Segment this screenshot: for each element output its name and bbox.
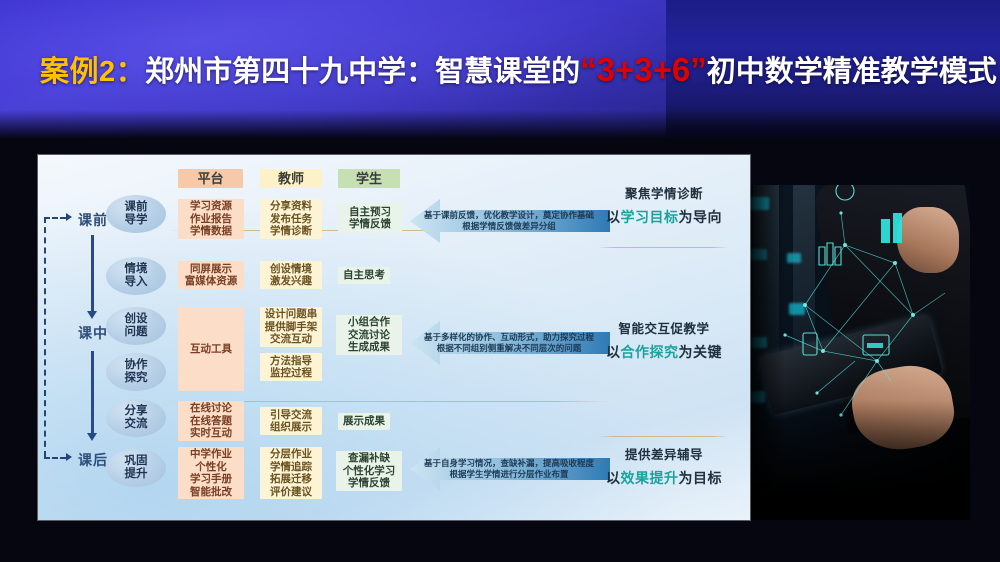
insight-arrow-1-line2: 根据学情反馈做差异分组 <box>462 221 556 232</box>
insight-arrow-2-text: 基于多样化的协作、互动形式，助力探究过程 根据不同组别侧重解决不同层次的问题 <box>416 321 602 365</box>
cell-platform-row-2: 同屏展示富媒体资源 <box>178 261 244 289</box>
step-oval-1-label: 课前导学 <box>125 201 148 227</box>
caption-block-1: 聚焦学情诊断 以学习目标为导向 <box>594 183 734 227</box>
stage-label-pre: 课前 <box>78 210 108 230</box>
title-tail: 初中数学精准教学模式 <box>707 56 997 88</box>
flow-arrow-head-2-icon <box>87 433 97 441</box>
caption-block-3: 提供差异辅导 以效果提升为目标 <box>594 444 734 488</box>
insight-arrow-3-text: 基于自身学习情况，查缺补漏，提高吸收程度 根据学生学情进行分层作业布置 <box>416 447 602 491</box>
cell-teacher-row-6: 分层作业学情追踪拓展迁移评价建议 <box>260 447 322 499</box>
technology-photo <box>745 185 970 520</box>
insight-arrow-2-line2: 根据不同组别侧重解决不同层次的问题 <box>437 343 582 354</box>
step-oval-6-label: 巩固提升 <box>125 455 148 481</box>
caption-2-line: 以合作探究为关键 <box>594 342 734 362</box>
caption-2-highlight: 合作探究 <box>621 344 679 360</box>
caption-3-prefix: 以 <box>606 470 621 486</box>
cell-student-row-6: 查漏补缺个性化学习学情反馈 <box>336 451 402 491</box>
insight-arrow-1-text: 基于课前反馈，优化教学设计，奠定协作基础 根据学情反馈做差异分组 <box>416 199 602 243</box>
caption-1-highlight: 学习目标 <box>621 209 679 225</box>
insight-arrow-3-line1: 基于自身学习情况，查缺补漏，提高吸收程度 <box>424 458 594 469</box>
step-oval-5-label: 分享交流 <box>125 405 148 431</box>
insight-arrow-3-line2: 根据学生学情进行分层作业布置 <box>449 469 568 480</box>
page-title: 案例2：郑州市第四十九中学：智慧课堂的“3+3+6”初中数学精准教学模式 <box>40 48 980 96</box>
cell-student-row-2: 自主思考 <box>338 267 390 284</box>
title-school: 郑州市第四十九中学：智慧课堂的 <box>145 56 580 88</box>
caption-3-highlight: 效果提升 <box>621 470 679 486</box>
caption-2-heading: 智能交互促教学 <box>594 318 734 337</box>
timeline-dash-bottom <box>44 457 66 459</box>
insight-arrow-3: 基于自身学习情况，查缺补漏，提高吸收程度 根据学生学情进行分层作业布置 <box>410 447 610 491</box>
cell-teacher-row-5: 引导交流组织展示 <box>260 407 322 435</box>
caption-separator-1 <box>598 247 728 248</box>
title-case-label: 案例2： <box>40 56 145 88</box>
flow-arrow-line-1 <box>91 235 94 311</box>
step-oval-2[interactable]: 情境导入 <box>106 257 166 295</box>
column-header-teacher: 教师 <box>260 169 322 188</box>
cell-teacher-row-3: 设计问题串提供脚手架交流互动 <box>260 307 322 347</box>
caption-separator-2 <box>598 436 728 437</box>
caption-2-suffix: 为关键 <box>679 344 723 360</box>
caption-1-suffix: 为导向 <box>679 209 723 225</box>
flow-arrow-head-1-icon <box>87 311 97 319</box>
cell-student-row-5: 展示成果 <box>338 413 390 430</box>
caption-3-line: 以效果提升为目标 <box>594 468 734 488</box>
step-oval-6[interactable]: 巩固提升 <box>106 449 166 487</box>
timeline-arrow-bottom-icon <box>66 453 72 461</box>
photo-left-fade <box>745 185 785 520</box>
caption-3-heading: 提供差异辅导 <box>594 444 734 463</box>
caption-2-prefix: 以 <box>606 344 621 360</box>
flow-arrow-line-2 <box>91 351 94 433</box>
step-oval-1[interactable]: 课前导学 <box>106 195 166 233</box>
title-model-number: 3+3+6 <box>597 51 691 88</box>
insight-arrow-1: 基于课前反馈，优化教学设计，奠定协作基础 根据学情反馈做差异分组 <box>410 199 610 243</box>
title-quote-open: “ <box>580 51 597 88</box>
insight-arrow-1-line1: 基于课前反馈，优化教学设计，奠定协作基础 <box>424 210 594 221</box>
cell-student-row-1: 自主预习学情反馈 <box>338 203 402 233</box>
stage-label-during: 课中 <box>78 323 108 343</box>
cell-teacher-row-1: 分享资料发布任务学情诊断 <box>260 199 322 239</box>
diagram-card: 平台 教师 学生 课前 课中 课后 课前导学 情境导入 创设问题 协作探究 分享… <box>38 155 750 520</box>
caption-1-prefix: 以 <box>606 209 621 225</box>
cell-teacher-row-4: 方法指导监控过程 <box>260 353 322 381</box>
caption-block-2: 智能交互促教学 以合作探究为关键 <box>594 318 734 362</box>
title-quote-close: ” <box>690 51 707 88</box>
cell-student-row-3: 小组合作交流讨论生成成果 <box>336 315 402 355</box>
column-header-platform: 平台 <box>178 169 243 188</box>
cell-platform-row-5: 在线讨论在线答题实时互动 <box>178 401 244 441</box>
slide-root: 案例2：郑州市第四十九中学：智慧课堂的“3+3+6”初中数学精准教学模式 <box>0 0 1000 562</box>
cell-teacher-row-2: 创设情境激发兴趣 <box>260 261 322 289</box>
timeline-dashed-line <box>44 217 46 457</box>
step-oval-2-label: 情境导入 <box>125 263 148 289</box>
caption-1-heading: 聚焦学情诊断 <box>594 183 734 202</box>
step-oval-4-label: 协作探究 <box>125 359 148 385</box>
step-oval-5[interactable]: 分享交流 <box>106 399 166 437</box>
timeline-dash-top <box>44 217 66 219</box>
timeline-arrow-top-icon <box>66 213 72 221</box>
step-oval-3[interactable]: 创设问题 <box>106 307 166 345</box>
insight-arrow-2-line1: 基于多样化的协作、互动形式，助力探究过程 <box>424 332 594 343</box>
step-oval-3-label: 创设问题 <box>125 313 148 339</box>
cell-platform-row-1: 学习资源作业报告学情数据 <box>178 199 244 239</box>
step-oval-4[interactable]: 协作探究 <box>106 353 166 391</box>
caption-3-suffix: 为目标 <box>679 470 723 486</box>
cell-platform-row-3: 互动工具 <box>178 307 244 391</box>
stage-label-post: 课后 <box>78 450 108 470</box>
cell-platform-row-6: 中学作业个性化学习手册智能批改 <box>178 447 244 499</box>
insight-arrow-2: 基于多样化的协作、互动形式，助力探究过程 根据不同组别侧重解决不同层次的问题 <box>410 321 610 365</box>
caption-1-line: 以学习目标为导向 <box>594 207 734 227</box>
title-band-fade <box>0 110 1000 138</box>
column-header-student: 学生 <box>338 169 400 188</box>
